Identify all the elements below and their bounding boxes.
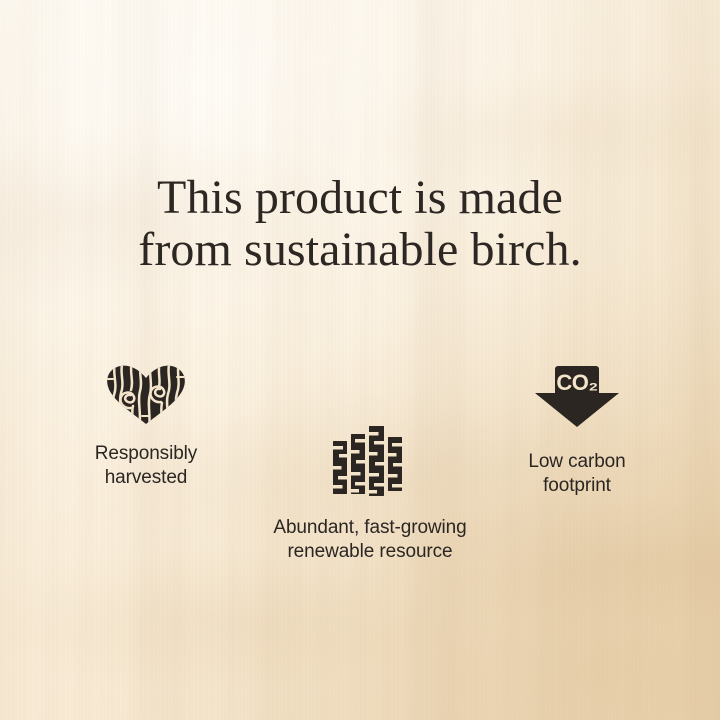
feature-renewable-resource: Abundant, fast-growing renewable resourc… (250, 424, 490, 564)
headline-line-1: This product is made (0, 172, 720, 224)
feature-responsibly-harvested: Responsibly harvested (36, 364, 256, 490)
co2-icon-text: CO₂ (556, 370, 597, 395)
wood-grain-heart-icon (36, 364, 256, 426)
feature-low-carbon-footprint: CO₂ Low carbon footprint (467, 364, 687, 498)
feature-label-low-carbon-footprint: Low carbon footprint (467, 450, 687, 498)
birch-product-panel: This product is made from sustainable bi… (0, 0, 720, 720)
headline: This product is made from sustainable bi… (0, 172, 720, 276)
panel-content: This product is made from sustainable bi… (0, 0, 720, 720)
feature-label-responsibly-harvested: Responsibly harvested (36, 442, 256, 490)
feature-label-renewable-resource: Abundant, fast-growing renewable resourc… (250, 516, 490, 564)
headline-line-2: from sustainable birch. (0, 224, 720, 276)
feature-list: Responsibly harvested (0, 358, 720, 568)
stacked-logs-icon (250, 424, 490, 496)
co2-down-arrow-icon: CO₂ (467, 364, 687, 428)
